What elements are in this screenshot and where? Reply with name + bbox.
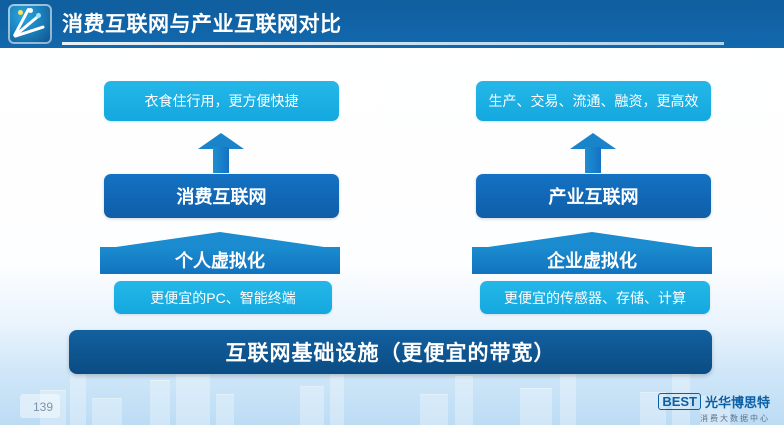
slide-header: 消费互联网与产业互联网对比 (0, 0, 784, 48)
brand-subtitle: 消费大数据中心 (658, 413, 770, 424)
right-chevron-label: 企业虚拟化 (472, 247, 712, 273)
right-mid-box: 产业互联网 (476, 174, 711, 218)
base-infrastructure-box: 互联网基础设施（更便宜的带宽） (69, 330, 712, 374)
right-top-box: 生产、交易、流通、融资，更高效 (476, 81, 711, 121)
left-mid-box: 消费互联网 (104, 174, 339, 218)
left-chevron-label: 个人虚拟化 (100, 247, 340, 273)
logo-dot-icon (28, 8, 33, 13)
page-number: 139 (33, 400, 53, 414)
right-up-arrow-icon (570, 133, 616, 173)
radar-burst-logo-icon (8, 4, 52, 44)
left-up-arrow-icon (198, 133, 244, 173)
slide-canvas: 消费互联网与产业互联网对比 衣食住行用，更方便快捷 消费互联网 个人虚拟化 更便… (0, 0, 784, 425)
right-chevron-band: 企业虚拟化 (472, 232, 712, 274)
right-bottom-box: 更便宜的传感器、存储、计算 (480, 281, 710, 314)
brand-name: 光华博思特 (705, 392, 770, 411)
logo-dot-icon (18, 10, 23, 15)
left-top-box: 衣食住行用，更方便快捷 (104, 81, 339, 121)
logo-dot-icon (36, 13, 41, 18)
page-title: 消费互联网与产业互联网对比 (62, 8, 342, 38)
brand-logo: BEST 光华博思特 消费大数据中心 (658, 392, 770, 424)
left-chevron-band: 个人虚拟化 (100, 232, 340, 274)
title-underline (62, 42, 724, 45)
left-bottom-box: 更便宜的PC、智能终端 (114, 281, 332, 314)
brand-mark: BEST (658, 393, 701, 410)
